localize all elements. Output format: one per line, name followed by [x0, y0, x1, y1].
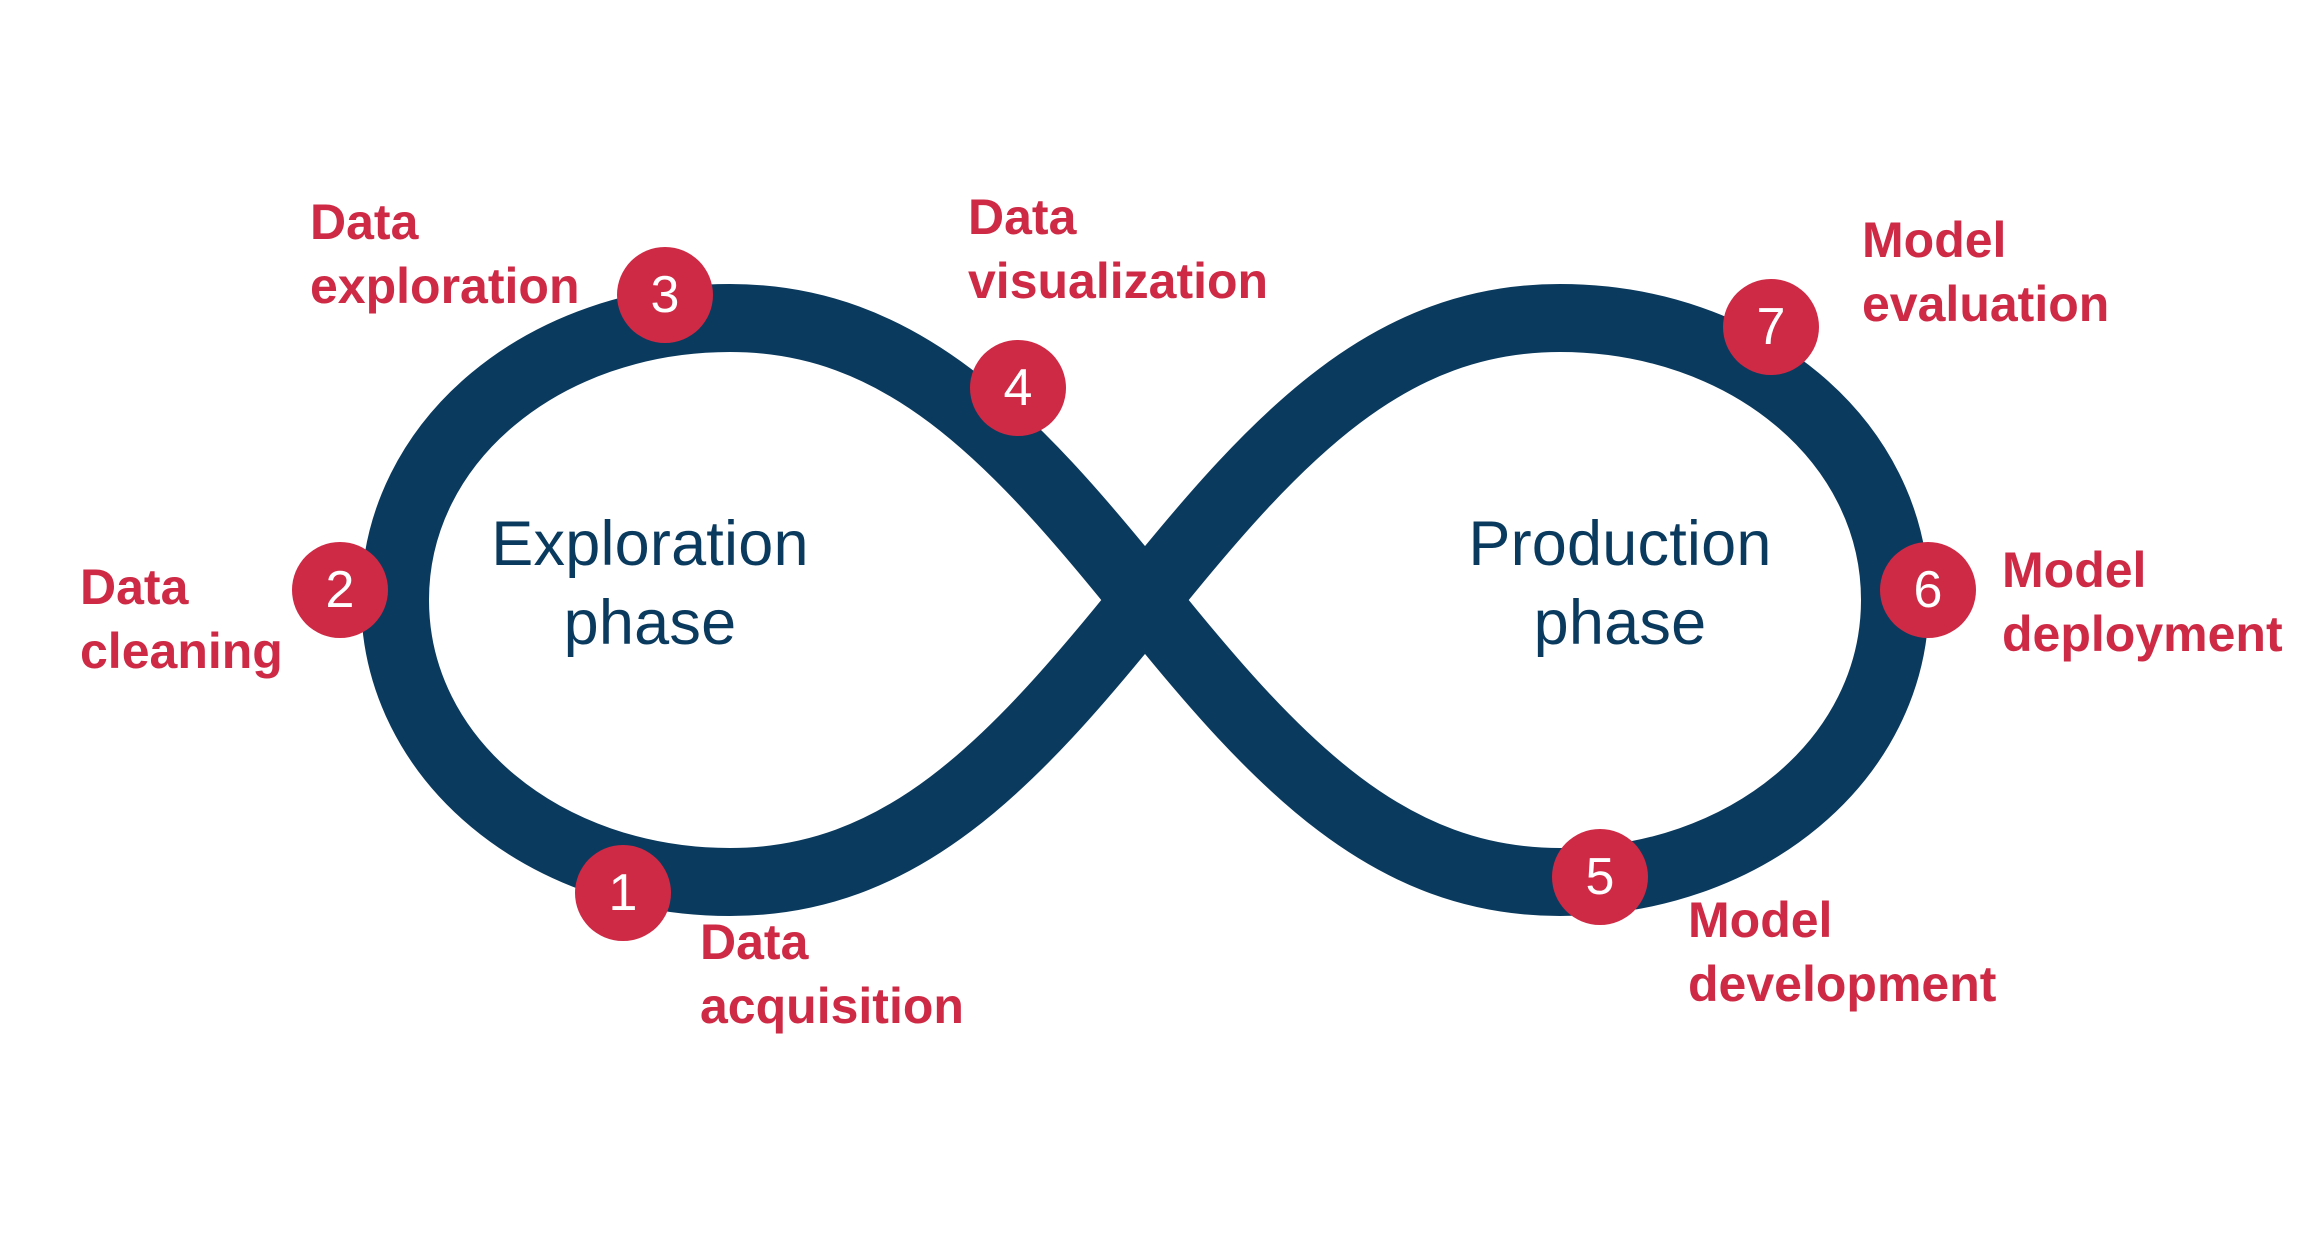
step-caption-model-deployment: Model deployment [2002, 538, 2300, 666]
step-badge-3[interactable]: 3 [617, 247, 713, 343]
step-badge-4[interactable]: 4 [970, 340, 1066, 436]
step-badge-2[interactable]: 2 [292, 542, 388, 638]
step-badge-5[interactable]: 5 [1552, 829, 1648, 925]
step-badge-7[interactable]: 7 [1723, 279, 1819, 375]
step-badge-1[interactable]: 1 [575, 845, 671, 941]
step-caption-data-acquisition: Data acquisition [700, 910, 1040, 1038]
step-caption-data-exploration: Data exploration [310, 190, 610, 318]
step-caption-data-cleaning: Data cleaning [80, 555, 290, 683]
step-caption-model-evaluation: Model evaluation [1862, 208, 2182, 336]
step-caption-model-development: Model development [1688, 888, 2048, 1016]
step-badge-6[interactable]: 6 [1880, 542, 1976, 638]
phase-label-exploration: Exploration phase [430, 505, 870, 663]
phase-label-production: Production phase [1400, 505, 1840, 663]
diagram-canvas: Exploration phase Production phase 1 Dat… [0, 0, 2300, 1250]
step-caption-data-visualization: Data visualization [968, 185, 1298, 313]
